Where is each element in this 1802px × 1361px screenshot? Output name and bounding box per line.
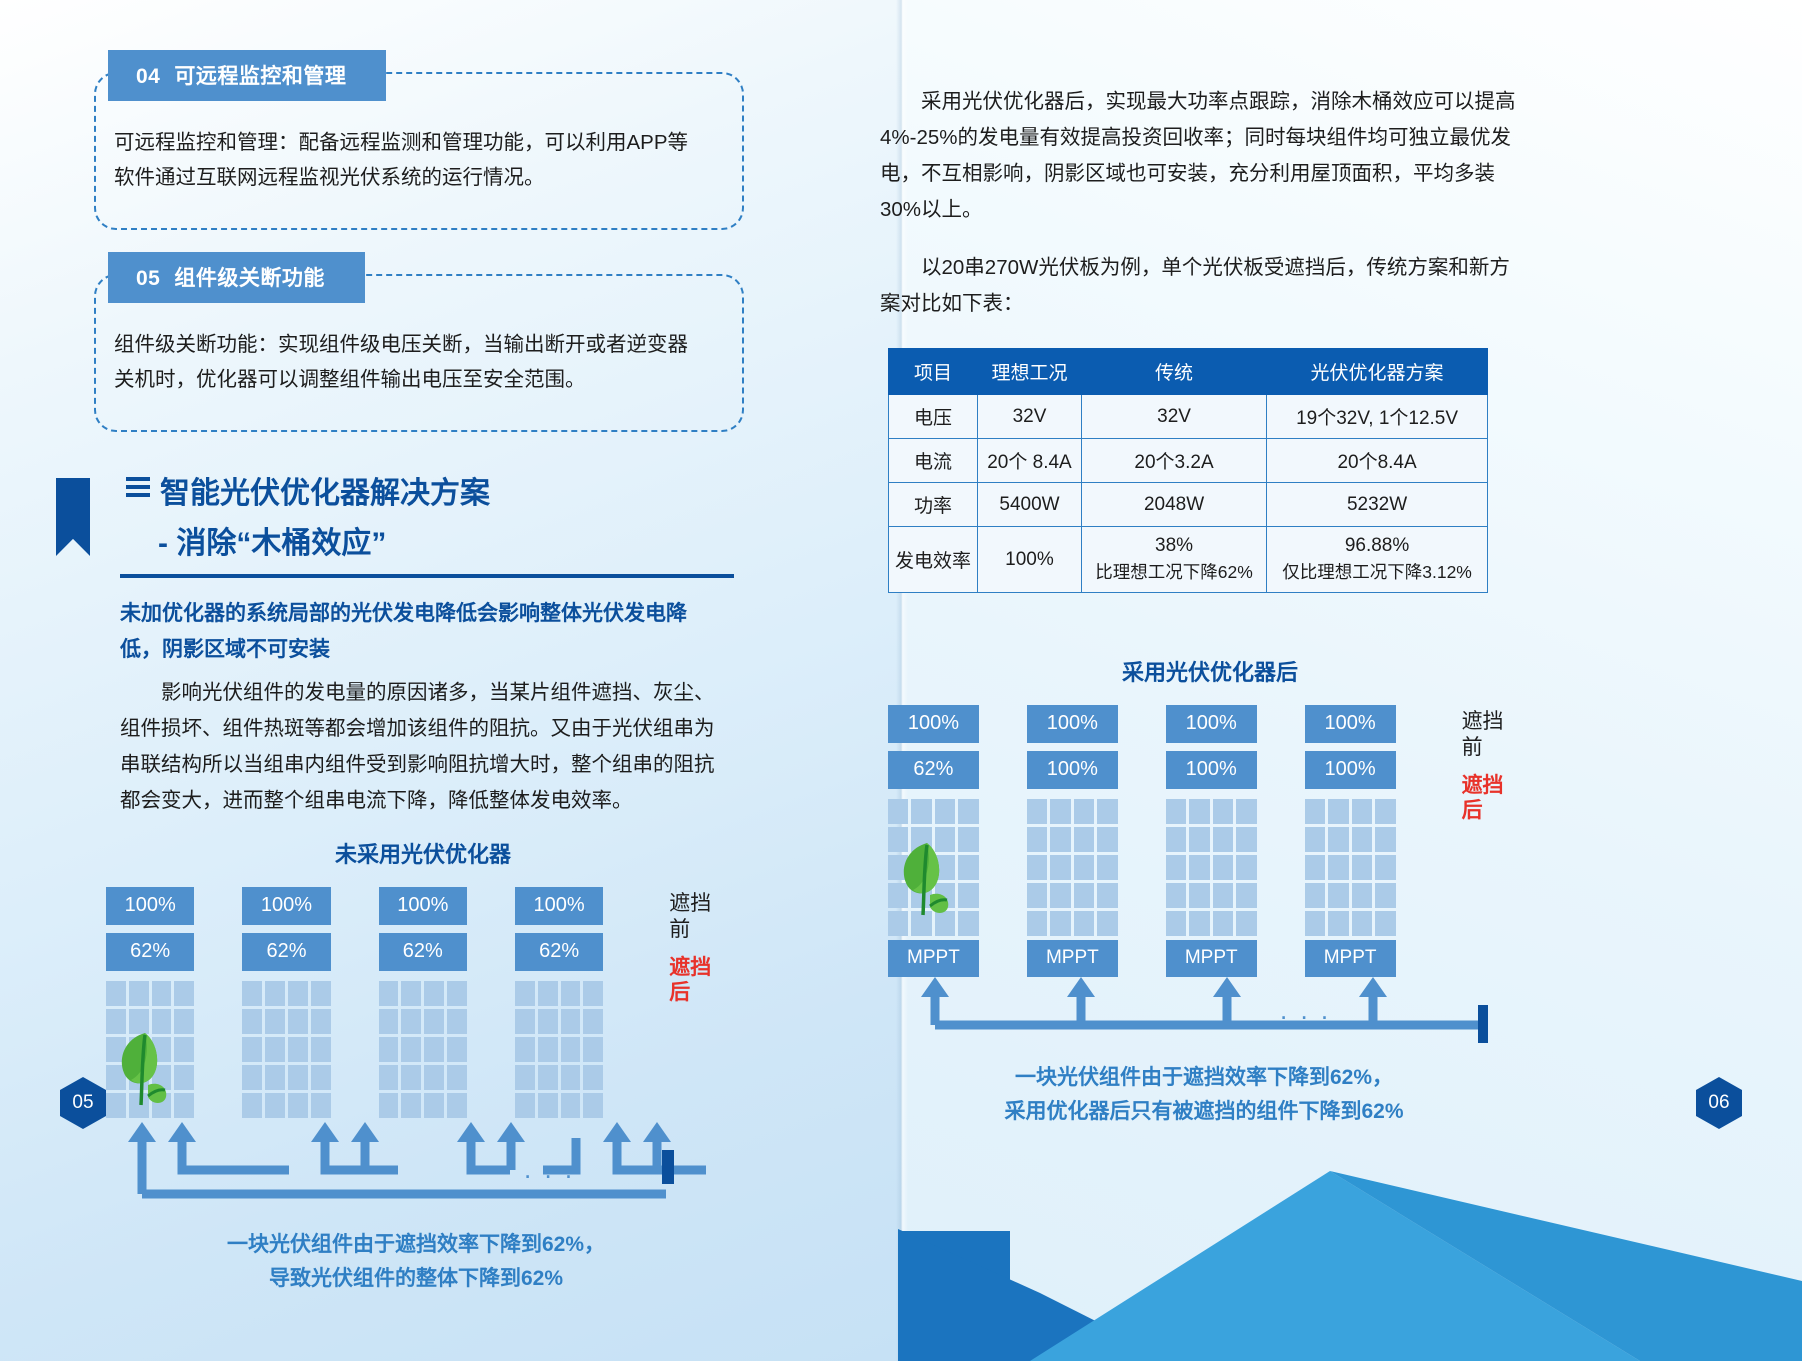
cell-value: 96.88% xyxy=(1345,535,1409,556)
section-paragraph: 影响光伏组件的发电量的原因诸多，当某片组件遮挡、灰尘、组件损坏、组件热斑等都会增… xyxy=(120,675,726,819)
pv-panel xyxy=(379,981,467,1118)
diagram-without-optimizer: 未采用光伏优化器 100% 62% xyxy=(86,837,726,1295)
right-paragraph-1: 采用光伏优化器后，实现最大功率点跟踪，消除木桶效应可以提高4%-25%的发电量有… xyxy=(880,84,1520,228)
after-value: 62% xyxy=(106,933,194,971)
cell-value: 38% xyxy=(1155,535,1193,556)
feature-card-04-header: 04可远程监控和管理 xyxy=(108,50,386,101)
caption-line-1: 一块光伏组件由于遮挡效率下降到62%， xyxy=(106,1228,726,1262)
before-value: 100% xyxy=(1166,705,1257,743)
pv-panel xyxy=(515,981,603,1118)
legend-before-label: 遮挡前 xyxy=(1462,709,1520,759)
string-row: 100% 62% xyxy=(106,887,726,1118)
after-value: 62% xyxy=(242,933,330,971)
col-header-ideal: 理想工况 xyxy=(978,349,1082,395)
mppt-box: MPPT xyxy=(1305,940,1396,977)
table-header-row: 项目 理想工况 传统 光伏优化器方案 xyxy=(889,349,1488,395)
section-heading: 智能光伏优化器解决方案 - 消除“木桶效应” xyxy=(66,472,726,562)
before-value: 100% xyxy=(1305,705,1396,743)
pv-string-3: 100% 62% xyxy=(379,887,467,1118)
cell-optimizer: 20个8.4A xyxy=(1267,439,1488,483)
after-value: 62% xyxy=(888,751,979,789)
string-row: 100% 62% xyxy=(888,705,1520,977)
brochure-spread: 04可远程监控和管理 可远程监控和管理：配备远程监测和管理功能，可以利用APP等… xyxy=(0,0,1802,1361)
cell-traditional: 32V xyxy=(1081,395,1266,439)
after-value: 100% xyxy=(1027,751,1118,789)
right-page-column: 采用光伏优化器后，实现最大功率点跟踪，消除木桶效应可以提高4%-25%的发电量有… xyxy=(880,78,1520,1129)
before-value: 100% xyxy=(515,887,603,925)
caption-line-2: 导致光伏组件的整体下降到62% xyxy=(106,1262,726,1296)
after-value: 62% xyxy=(379,933,467,971)
section-title-row: 智能光伏优化器解决方案 xyxy=(126,472,726,516)
feature-card-05: 05组件级关断功能 组件级关断功能：实现组件级电压关断，当输出断开或者逆变器关机… xyxy=(86,252,726,432)
cell-ideal: 20个 8.4A xyxy=(978,439,1082,483)
diagram-caption: 一块光伏组件由于遮挡效率下降到62%， 导致光伏组件的整体下降到62% xyxy=(106,1228,726,1295)
diagram-legend: 遮挡前 遮挡后 xyxy=(1462,705,1520,823)
row-label: 电压 xyxy=(889,395,978,439)
series-wiring-diagram: . . . xyxy=(106,1120,706,1212)
feature-card-05-body: 组件级关断功能：实现组件级电压关断，当输出断开或者逆变器关机时，优化器可以调整组… xyxy=(86,303,726,424)
section-divider xyxy=(120,574,734,578)
section-lede: 未加优化器的系统局部的光伏发电降低会影响整体光伏发电降低，阴影区域不可安装 xyxy=(120,596,726,670)
feature-card-05-header: 05组件级关断功能 xyxy=(108,252,365,303)
right-paragraph-2: 以20串270W光伏板为例，单个光伏板受遮挡后，传统方案和新方案对比如下表： xyxy=(880,250,1520,322)
cell-traditional: 2048W xyxy=(1081,483,1266,527)
feature-title: 可远程监控和管理 xyxy=(174,65,346,88)
pv-string-2: 100% 62% xyxy=(242,887,330,1118)
feature-card-04-body: 可远程监控和管理：配备远程监测和管理功能，可以利用APP等软件通过互联网远程监视… xyxy=(86,101,726,222)
before-value: 100% xyxy=(242,887,330,925)
col-header-optimizer: 光伏优化器方案 xyxy=(1267,349,1488,395)
before-value: 100% xyxy=(379,887,467,925)
legend-after-label: 遮挡后 xyxy=(1462,773,1520,823)
caption-line-1: 一块光伏组件由于遮挡效率下降到62%， xyxy=(888,1061,1520,1095)
pv-panel xyxy=(1305,799,1396,936)
pv-string-1: 100% 62% xyxy=(106,887,194,1118)
cell-subtext: 比理想工况下降62% xyxy=(1086,559,1262,584)
comparison-table: 项目 理想工况 传统 光伏优化器方案 电压 32V 32V 19个32V, 1个… xyxy=(888,348,1488,593)
cell-optimizer: 19个32V, 1个12.5V xyxy=(1267,395,1488,439)
left-page-column: 04可远程监控和管理 可远程监控和管理：配备远程监测和管理功能，可以利用APP等… xyxy=(86,50,726,1296)
table-row: 电压 32V 32V 19个32V, 1个12.5V xyxy=(889,395,1488,439)
col-header-traditional: 传统 xyxy=(1081,349,1266,395)
table-row: 功率 5400W 2048W 5232W xyxy=(889,483,1488,527)
pv-string-1: 100% 62% xyxy=(888,705,979,977)
pv-string-4: 100% 62% xyxy=(515,887,603,1118)
cell-optimizer: 96.88% 仅比理想工况下降3.12% xyxy=(1267,527,1488,593)
before-value: 100% xyxy=(1027,705,1118,743)
section-subtitle: - 消除“木桶效应” xyxy=(126,518,726,562)
before-value: 100% xyxy=(888,705,979,743)
cell-optimizer: 5232W xyxy=(1267,483,1488,527)
legend-after-label: 遮挡后 xyxy=(669,955,726,1005)
row-label: 功率 xyxy=(889,483,978,527)
legend-before-label: 遮挡前 xyxy=(669,891,726,941)
pv-panel xyxy=(242,981,330,1118)
cell-subtext: 仅比理想工况下降3.12% xyxy=(1271,559,1483,584)
hamburger-icon xyxy=(126,477,150,501)
svg-text:. . .: . . . xyxy=(524,1154,575,1184)
section-title: 智能光伏优化器解决方案 xyxy=(160,477,490,510)
feature-title: 组件级关断功能 xyxy=(174,267,325,290)
diagram-with-optimizer: 采用光伏优化器后 100% 62% xyxy=(880,655,1520,1128)
pv-string-4: 100% 100% MPPT xyxy=(1305,705,1396,977)
mppt-box: MPPT xyxy=(1027,940,1118,977)
pv-panel xyxy=(888,799,979,936)
after-value: 100% xyxy=(1305,751,1396,789)
feature-card-04: 04可远程监控和管理 可远程监控和管理：配备远程监测和管理功能，可以利用APP等… xyxy=(86,50,726,230)
pv-string-3: 100% 100% MPPT xyxy=(1166,705,1257,977)
diagram-title: 采用光伏优化器后 xyxy=(900,655,1520,687)
before-value: 100% xyxy=(106,887,194,925)
svg-text:. . .: . . . xyxy=(1280,995,1331,1025)
mppt-box: MPPT xyxy=(1166,940,1257,977)
feature-number: 04 xyxy=(136,65,160,88)
diagram-caption: 一块光伏组件由于遮挡效率下降到62%， 采用优化器后只有被遮挡的组件下降到62% xyxy=(888,1061,1520,1128)
pv-panel xyxy=(106,981,194,1118)
pv-string-2: 100% 100% MPPT xyxy=(1027,705,1118,977)
after-value: 100% xyxy=(1166,751,1257,789)
col-header-item: 项目 xyxy=(889,349,978,395)
row-label: 发电效率 xyxy=(889,527,978,593)
table-row: 电流 20个 8.4A 20个3.2A 20个8.4A xyxy=(889,439,1488,483)
cell-ideal: 5400W xyxy=(978,483,1082,527)
cell-traditional: 38% 比理想工况下降62% xyxy=(1081,527,1266,593)
pv-panel xyxy=(1166,799,1257,936)
cell-ideal: 32V xyxy=(978,395,1082,439)
cell-ideal: 100% xyxy=(978,527,1082,593)
section-flag-shape xyxy=(56,478,90,556)
pv-panel xyxy=(1027,799,1118,936)
series-wiring-diagram: . . . xyxy=(888,977,1488,1043)
diagram-legend: 遮挡前 遮挡后 xyxy=(669,887,726,1005)
diagram-title: 未采用光伏优化器 xyxy=(120,837,726,869)
caption-line-2: 采用优化器后只有被遮挡的组件下降到62% xyxy=(888,1095,1520,1129)
table-row: 发电效率 100% 38% 比理想工况下降62% 96.88% 仅比理想工况下降… xyxy=(889,527,1488,593)
mppt-box: MPPT xyxy=(888,940,979,977)
feature-number: 05 xyxy=(136,267,160,290)
cell-traditional: 20个3.2A xyxy=(1081,439,1266,483)
after-value: 62% xyxy=(515,933,603,971)
row-label: 电流 xyxy=(889,439,978,483)
